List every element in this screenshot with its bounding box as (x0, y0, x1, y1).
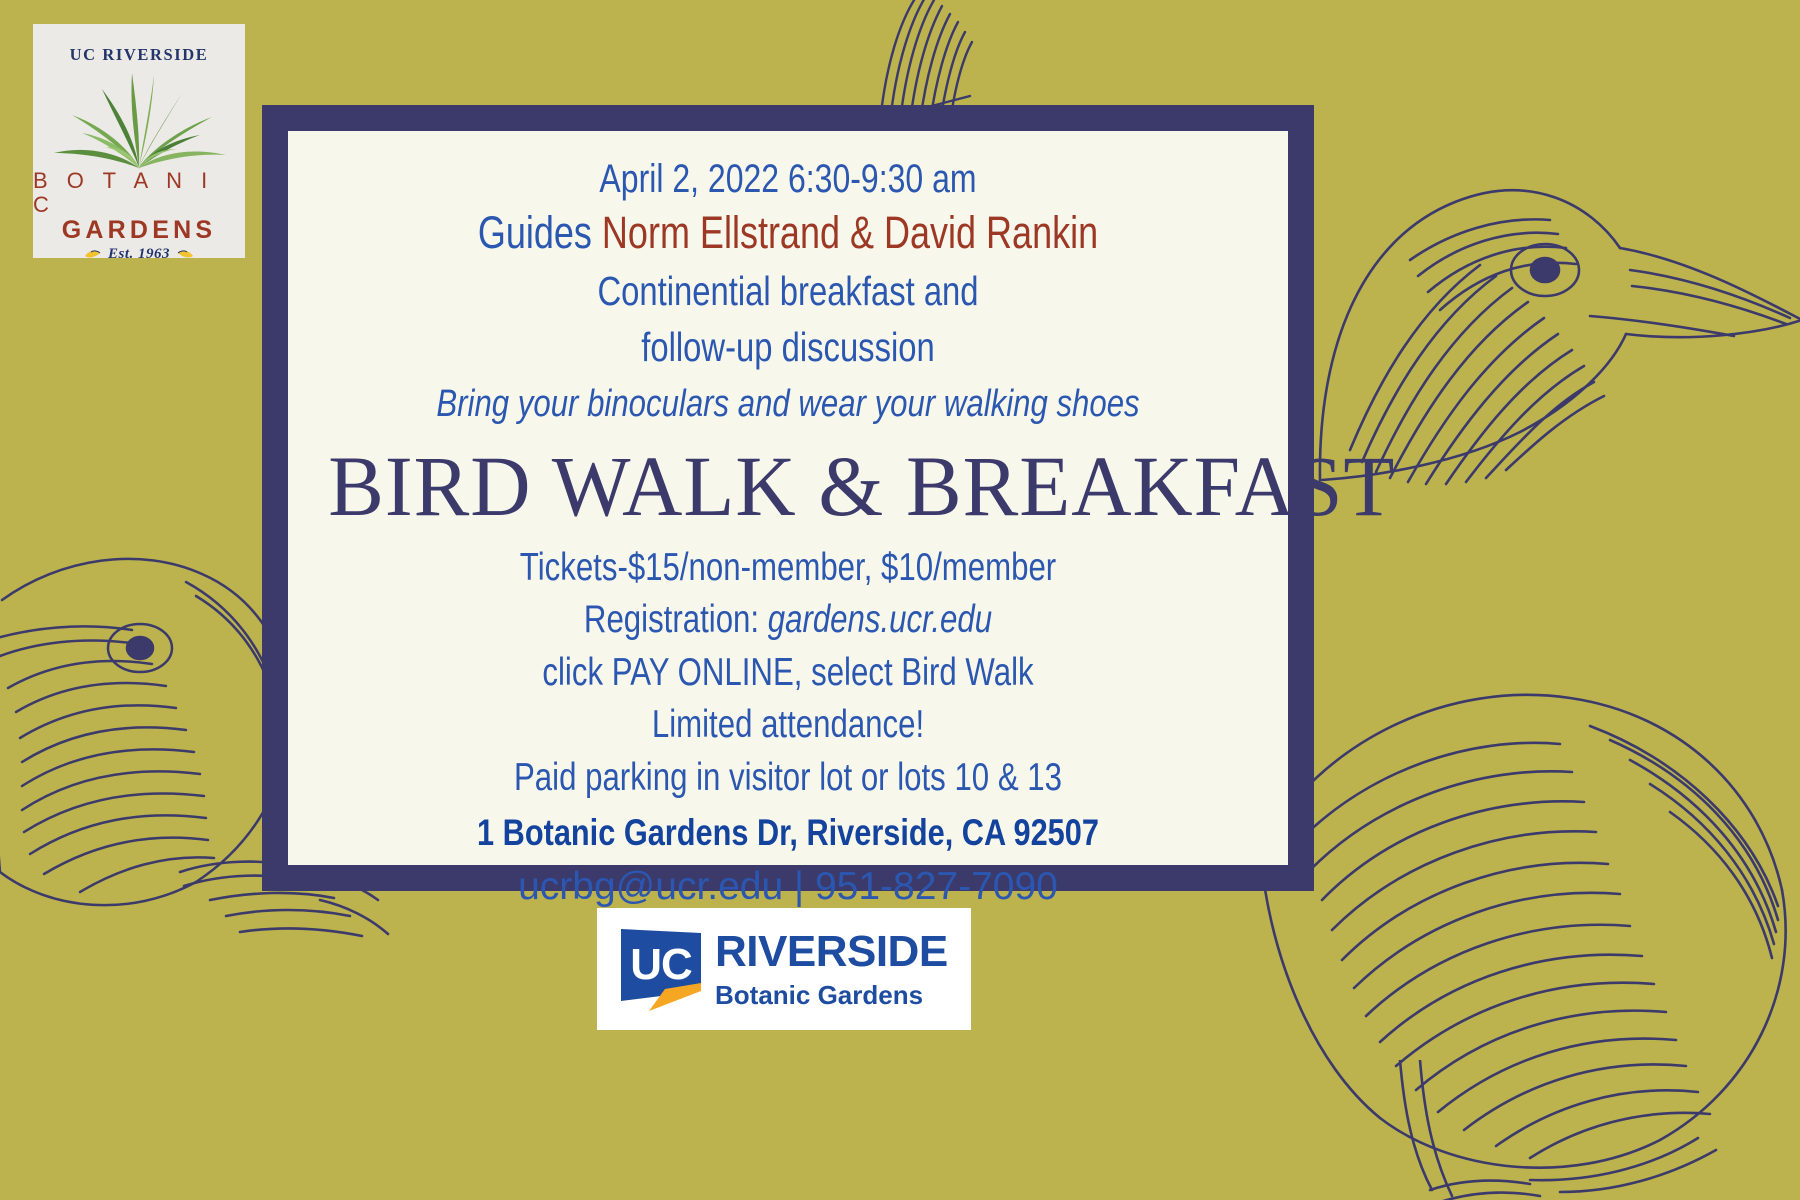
bird-body-right-icon (1230, 620, 1800, 1200)
ucbg-logo-botanic: B O T A N I C (33, 169, 245, 217)
event-registration: Registration: gardens.ucr.edu (409, 594, 1167, 645)
event-pay-online: click PAY ONLINE, select Bird Walk (409, 647, 1167, 698)
leaf-flourish-right-icon (176, 248, 194, 258)
ucr-logo-botanic-gardens: Botanic Gardens (715, 982, 948, 1008)
event-bring-note: Bring your binoculars and wear your walk… (399, 380, 1176, 429)
event-card-content: April 2, 2022 6:30-9:30 am Guides Norm E… (288, 131, 1288, 865)
svg-text:UC: UC (630, 940, 692, 989)
bird-wing-top-icon (820, 0, 1040, 122)
event-date-time: April 2, 2022 6:30-9:30 am (409, 155, 1167, 204)
ucr-logo-riverside: RIVERSIDE (715, 930, 948, 974)
event-address: 1 Botanic Gardens Dr, Riverside, CA 9250… (395, 809, 1182, 857)
ucbg-logo-gardens: GARDENS (62, 217, 216, 243)
guides-label: Guides (478, 207, 602, 258)
ucbg-logo: UC RIVERSIDE B O T A N (33, 24, 245, 258)
ucbg-logo-uc-riverside: UC RIVERSIDE (70, 45, 209, 65)
event-card: April 2, 2022 6:30-9:30 am Guides Norm E… (262, 105, 1314, 891)
event-detail-line-1: Continential breakfast and (409, 265, 1167, 317)
event-guides: Guides Norm Ellstrand & David Rankin (409, 206, 1167, 261)
ucbg-logo-established: Est. 1963 (84, 246, 194, 258)
registration-label: Registration: (584, 598, 768, 641)
event-title: BIRD WALK & BREAKFAST (328, 443, 1248, 531)
event-parking: Paid parking in visitor lot or lots 10 &… (409, 752, 1167, 803)
leaf-flourish-left-icon (84, 248, 102, 258)
registration-url[interactable]: gardens.ucr.edu (768, 598, 992, 641)
event-contact[interactable]: ucrbg@ucr.edu | 951-827-7090 (314, 862, 1262, 913)
bird-leg-right-icon (1360, 1060, 1560, 1200)
bird-head-right-icon (1290, 120, 1800, 490)
ucbg-logo-est-text: Est. 1963 (108, 246, 170, 258)
guides-names: Norm Ellstrand & David Rankin (602, 207, 1098, 258)
event-limited-attendance: Limited attendance! (409, 699, 1167, 750)
event-tickets: Tickets-$15/non-member, $10/member (409, 542, 1167, 593)
uc-banner-icon: UC (619, 927, 703, 1011)
event-detail-line-2: follow-up discussion (409, 321, 1167, 373)
agave-plant-icon (44, 67, 234, 171)
ucr-riverside-logo: UC RIVERSIDE Botanic Gardens (597, 908, 971, 1030)
ucr-logo-text: RIVERSIDE Botanic Gardens (715, 930, 948, 1008)
poster-canvas: UC RIVERSIDE B O T A N (0, 0, 1800, 1200)
